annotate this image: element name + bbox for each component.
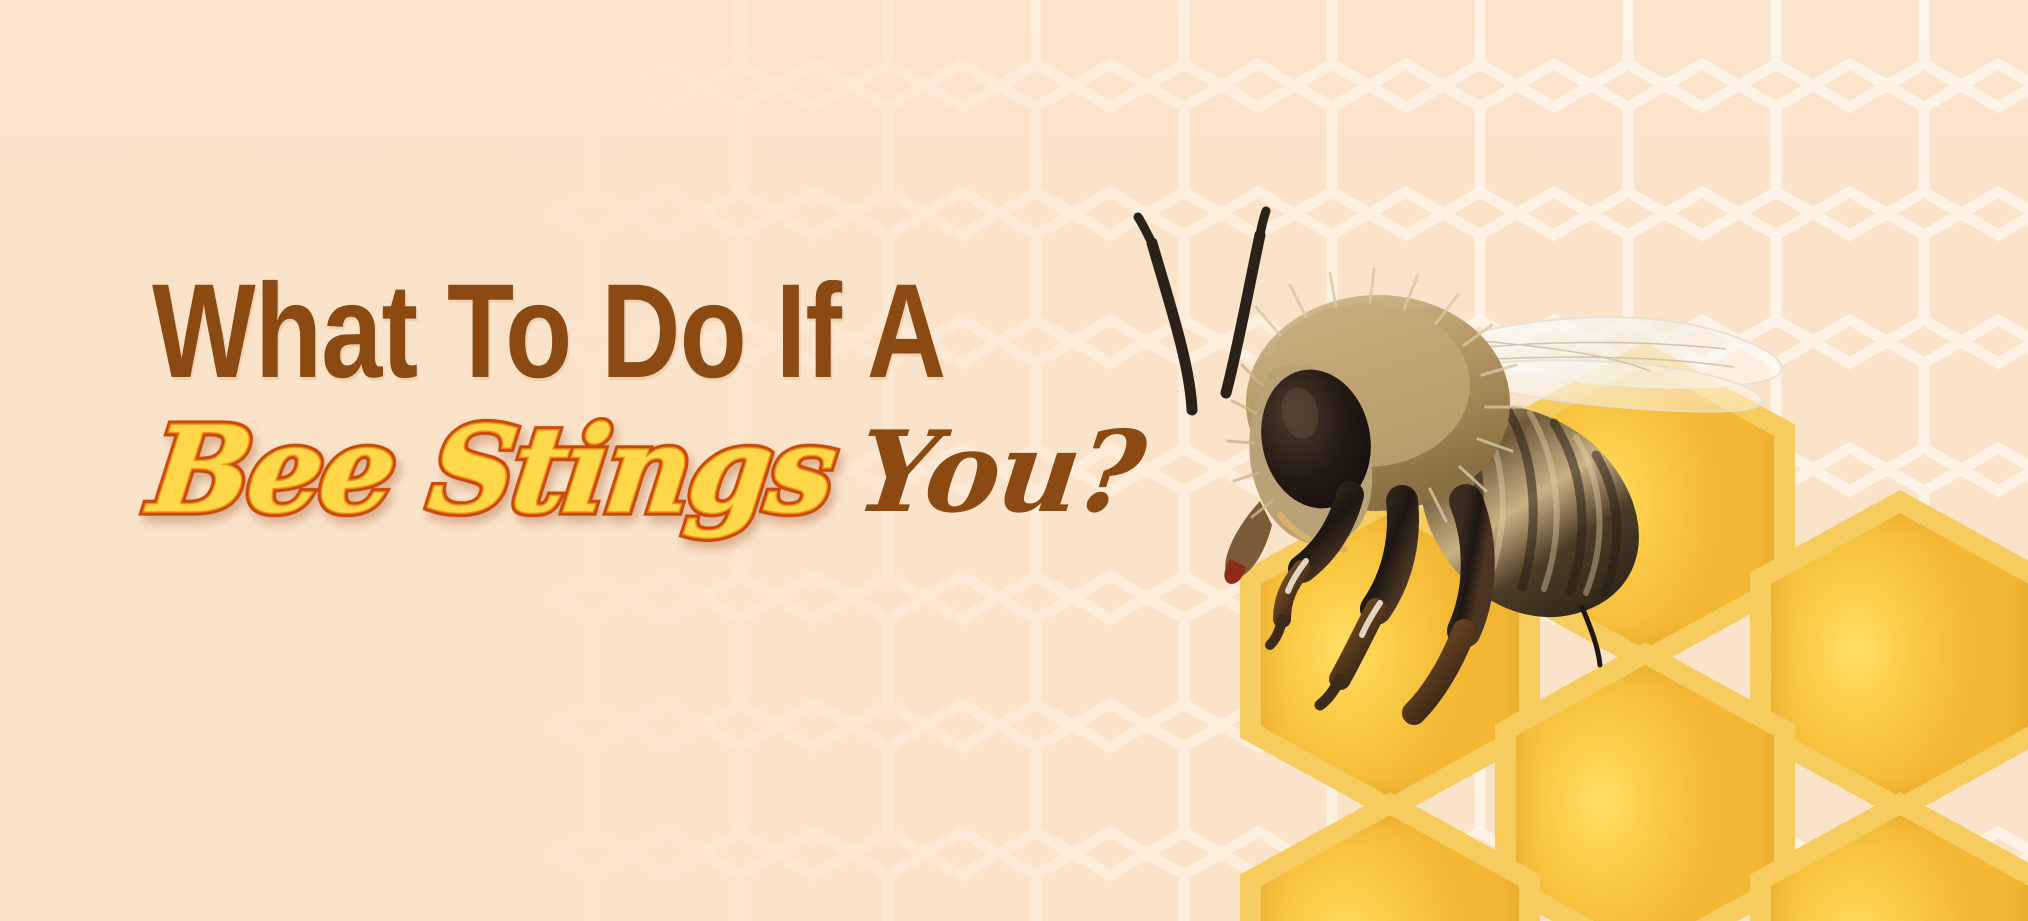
honeycomb-cell-inner bbox=[1261, 815, 1519, 921]
headline-script-word: Bee Stings bbox=[145, 411, 840, 529]
headline-block: What To Do If A Bee Stings You? bbox=[152, 270, 1132, 529]
honeycomb-cell-inner bbox=[1771, 815, 2028, 921]
honey-bee-image bbox=[1130, 195, 1850, 715]
headline-line-1: What To Do If A bbox=[152, 270, 956, 393]
headline-line-2: Bee Stings You? bbox=[152, 411, 1132, 529]
bee-antennae bbox=[1138, 211, 1266, 410]
bee-sting-banner: What To Do If A Bee Stings You? bbox=[0, 0, 2028, 921]
headline-trailing-word: You? bbox=[851, 417, 1149, 529]
bee-stinger bbox=[1582, 607, 1600, 665]
